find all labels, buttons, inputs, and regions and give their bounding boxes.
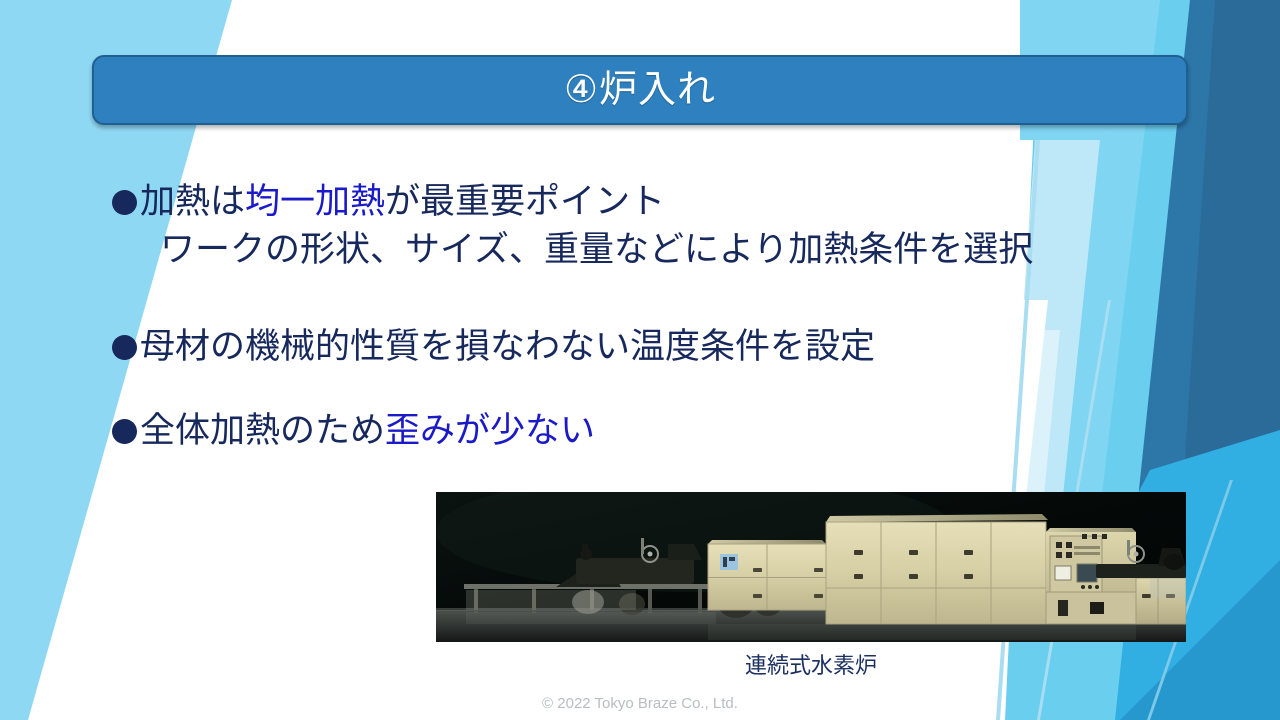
bullet-dot-icon (112, 419, 137, 444)
bullet-text-highlight: 歪みが少ない (385, 411, 595, 450)
bullet-line: 母材の機械的性質を損なわない温度条件を設定 (112, 323, 1112, 371)
bullet-line-sub: ワークの形状、サイズ、重量などにより加熱条件を選択 (112, 226, 1112, 274)
bullet-text-segment: 加熱は (140, 182, 245, 221)
slide-title-banner: ④炉入れ (92, 55, 1188, 125)
bullet-dot-icon (112, 190, 137, 215)
bullet-text-highlight: 均一加熱 (245, 182, 385, 221)
page-title: ④炉入れ (564, 71, 716, 109)
bullet-line: 全体加熱のため歪みが少ない (112, 407, 1112, 455)
bullet-text-segment: 母材の機械的性質を損なわない温度条件を設定 (140, 327, 875, 366)
copyright-footer: © 2022 Tokyo Braze Co., Ltd. (0, 695, 1280, 712)
slide-body: 加熱は均一加熱が最重要ポイント ワークの形状、サイズ、重量などにより加熱条件を選… (112, 178, 1112, 481)
bullet-group: 母材の機械的性質を損なわない温度条件を設定 (112, 323, 1112, 371)
bullet-text-segment: ワークの形状、サイズ、重量などにより加熱条件を選択 (160, 230, 1033, 269)
bullet-text-segment: が最重要ポイント (385, 182, 665, 221)
photo-caption: 連続式水素炉 (436, 648, 1186, 680)
bullet-line: 加熱は均一加熱が最重要ポイント (112, 178, 1112, 226)
continuous-hydrogen-furnace-photo (436, 492, 1186, 642)
bullet-group: 加熱は均一加熱が最重要ポイント ワークの形状、サイズ、重量などにより加熱条件を選… (112, 178, 1112, 275)
slide-canvas: ④炉入れ 加熱は均一加熱が最重要ポイント ワークの形状、サイズ、重量などにより加… (0, 0, 1280, 720)
bullet-group: 全体加熱のため歪みが少ない (112, 407, 1112, 455)
bullet-dot-icon (112, 335, 137, 360)
bullet-text-segment: 全体加熱のため (140, 411, 385, 450)
